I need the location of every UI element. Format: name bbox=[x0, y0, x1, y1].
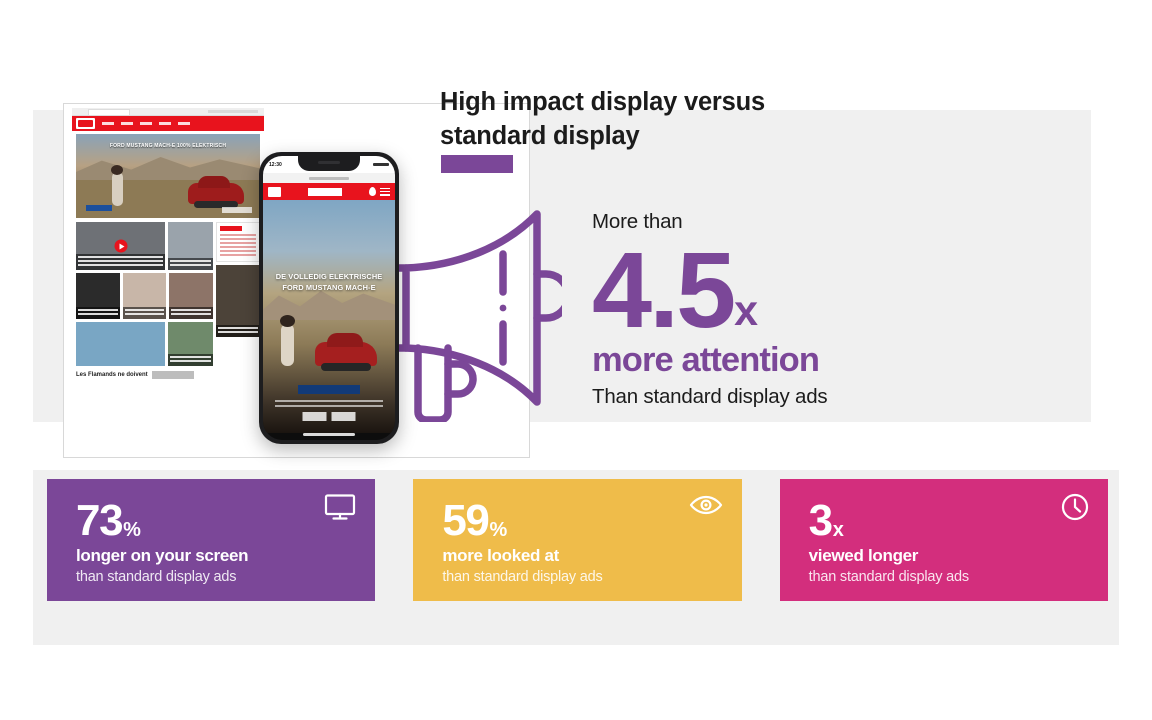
desktop-browser-mockup: FORD MUSTANG MACH-E 100% ELEKTRISCH bbox=[72, 108, 264, 432]
ad-car-figure bbox=[188, 183, 244, 204]
hero-footnote: Than standard display ads bbox=[592, 385, 1012, 409]
page-title-line2: standard display bbox=[440, 120, 860, 154]
caption-lines bbox=[78, 309, 118, 315]
stat-label: more looked at bbox=[442, 546, 721, 566]
news-card-caption bbox=[216, 325, 260, 337]
nav-item bbox=[140, 122, 152, 125]
ad-car-figure bbox=[315, 342, 377, 366]
site-nav-bar bbox=[72, 116, 264, 131]
ad-cta-button[interactable] bbox=[298, 385, 360, 394]
stat-number-unit: x bbox=[833, 521, 844, 541]
news-grid bbox=[76, 222, 260, 369]
phone-ad-headline: DE VOLLEDIG ELEKTRISCHE FORD MUSTANG MAC… bbox=[267, 272, 391, 293]
sidebar-widget bbox=[216, 222, 260, 262]
news-footer-row: Les Flamands ne doivent bbox=[76, 371, 260, 379]
sidebar-promo-card bbox=[216, 265, 260, 337]
news-main-column bbox=[76, 222, 213, 369]
browser-url-bar bbox=[208, 110, 258, 113]
site-logo bbox=[76, 118, 95, 129]
news-card bbox=[123, 273, 167, 319]
ad-person-figure bbox=[112, 172, 123, 206]
stat-number-unit: % bbox=[123, 521, 140, 541]
url-text bbox=[309, 177, 349, 180]
caption-lines bbox=[125, 309, 165, 315]
caption-lines bbox=[78, 256, 163, 266]
stat-sublabel: than standard display ads bbox=[442, 569, 721, 585]
news-card-caption bbox=[169, 307, 213, 319]
ad-brand-logo bbox=[222, 207, 252, 213]
phone-mockup: 12:30 DE VOLLEDIG ELEKTRISCHE FORD MUSTA… bbox=[259, 152, 399, 444]
eye-icon bbox=[689, 493, 723, 522]
caption-lines bbox=[218, 327, 258, 333]
infographic-stage: FORD MUSTANG MACH-E 100% ELEKTRISCH bbox=[0, 0, 1152, 720]
play-icon bbox=[114, 240, 127, 253]
nav-item bbox=[121, 122, 133, 125]
news-card-caption bbox=[76, 307, 120, 319]
stat-card-viewed-longer: 3 x viewed longer than standard display … bbox=[780, 479, 1108, 601]
nav-item bbox=[102, 122, 114, 125]
stat-number-group: 73 % bbox=[76, 501, 355, 541]
stat-number-unit: % bbox=[489, 521, 506, 541]
footer-headline: Les Flamands ne doivent bbox=[76, 372, 148, 378]
stat-number-value: 59 bbox=[442, 501, 488, 541]
stat-number-value: 3 bbox=[809, 501, 832, 541]
news-card-caption bbox=[123, 307, 167, 319]
caption-lines bbox=[171, 309, 211, 315]
stat-number-value: 73 bbox=[76, 501, 122, 541]
phone-screen: 12:30 DE VOLLEDIG ELEKTRISCHE FORD MUSTA… bbox=[263, 156, 395, 440]
stat-card-more-looked-at: 59 % more looked at than standard displa… bbox=[413, 479, 741, 601]
page-title: High impact display versus standard disp… bbox=[440, 86, 860, 153]
phone-ad-creative: DE VOLLEDIG ELEKTRISCHE FORD MUSTANG MAC… bbox=[263, 200, 395, 433]
clock-icon bbox=[1061, 493, 1089, 526]
news-card-caption bbox=[168, 258, 213, 270]
phone-site-nav bbox=[263, 183, 395, 200]
news-card bbox=[76, 322, 165, 366]
stat-label: viewed longer bbox=[809, 546, 1088, 566]
news-card-caption bbox=[76, 254, 165, 270]
nav-item bbox=[159, 122, 171, 125]
ad-legal-text bbox=[275, 400, 383, 409]
news-card bbox=[76, 273, 120, 319]
news-card bbox=[76, 222, 165, 270]
monitor-icon bbox=[324, 493, 356, 526]
droplet-icon bbox=[369, 187, 376, 196]
news-card bbox=[168, 322, 213, 366]
page-title-line1: High impact display versus bbox=[440, 86, 860, 120]
megaphone-icon bbox=[396, 196, 562, 422]
nav-icons bbox=[369, 187, 390, 196]
browser-chrome-bar bbox=[72, 108, 264, 116]
stat-sublabel: than standard display ads bbox=[809, 569, 1088, 585]
phone-ad-headline-line2: FORD MUSTANG MACH-E bbox=[267, 283, 391, 294]
stat-sublabel: than standard display ads bbox=[76, 569, 355, 585]
news-row bbox=[76, 322, 213, 366]
nav-item bbox=[178, 122, 190, 125]
hero-subtitle: more attention bbox=[592, 342, 1012, 378]
browser-tab bbox=[88, 109, 130, 115]
news-row bbox=[76, 222, 213, 270]
footer-thumbnail bbox=[152, 371, 194, 379]
hero-number-group: 4.5 x bbox=[592, 239, 1012, 342]
news-card bbox=[169, 273, 213, 319]
ad-person-figure bbox=[281, 324, 294, 366]
status-indicators bbox=[373, 163, 389, 166]
ad-brand-logos bbox=[303, 412, 356, 421]
nav-label bbox=[308, 188, 342, 196]
news-card bbox=[168, 222, 213, 270]
phone-notch bbox=[298, 156, 360, 171]
status-time: 12:30 bbox=[269, 162, 282, 168]
hero-number-unit: x bbox=[734, 291, 757, 341]
hero-statistic: More than 4.5 x more attention Than stan… bbox=[592, 210, 1012, 409]
stat-number-group: 59 % bbox=[442, 501, 721, 541]
hero-number-value: 4.5 bbox=[592, 239, 733, 342]
desktop-hero-ad: FORD MUSTANG MACH-E 100% ELEKTRISCH bbox=[76, 134, 260, 218]
title-accent-bar bbox=[441, 155, 513, 173]
news-row bbox=[76, 273, 213, 319]
stat-card-longer-on-screen: 73 % longer on your screen than standard… bbox=[47, 479, 375, 601]
sidebar-badge bbox=[220, 226, 242, 231]
ad-cta-button bbox=[86, 205, 112, 211]
stat-label: longer on your screen bbox=[76, 546, 355, 566]
caption-lines bbox=[170, 260, 211, 266]
stat-cards-row: 73 % longer on your screen than standard… bbox=[47, 479, 1108, 601]
desktop-ad-headline: FORD MUSTANG MACH-E 100% ELEKTRISCH bbox=[76, 143, 260, 151]
phone-ad-headline-line1: DE VOLLEDIG ELEKTRISCHE bbox=[267, 272, 391, 283]
stat-number-group: 3 x bbox=[809, 501, 1088, 541]
caption-lines bbox=[170, 356, 211, 362]
home-indicator bbox=[303, 433, 355, 436]
phone-url-bar bbox=[263, 173, 395, 183]
sidebar-lines bbox=[220, 234, 256, 256]
hamburger-menu-icon[interactable] bbox=[380, 188, 390, 196]
news-card-caption bbox=[168, 354, 213, 366]
news-sidebar bbox=[216, 222, 260, 369]
site-logo bbox=[268, 187, 281, 197]
